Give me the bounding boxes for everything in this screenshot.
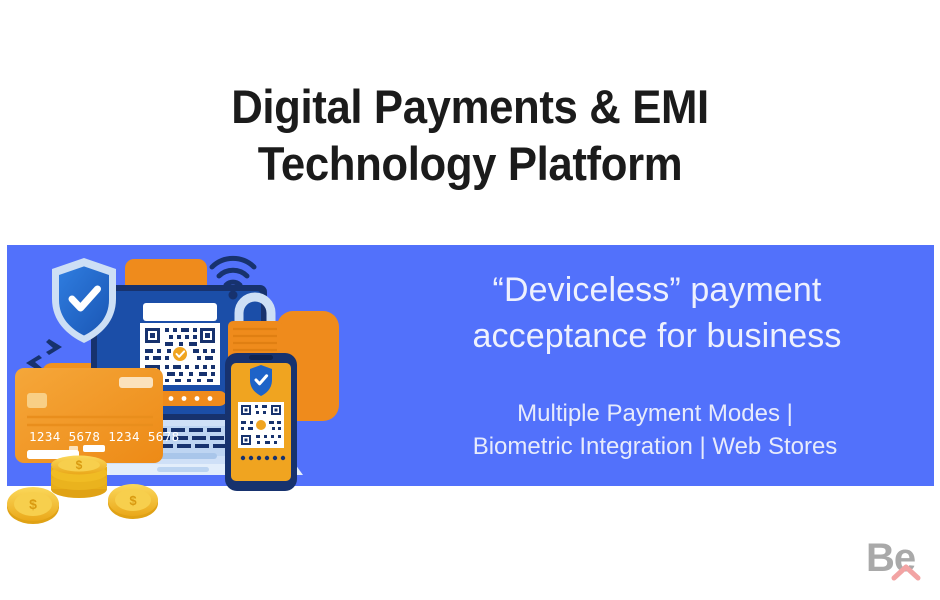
slide-canvas: Digital Payments & EMI Technology Platfo… [0, 0, 940, 600]
subheadline-line-2: Biometric Integration | Web Stores [405, 430, 905, 463]
behance-watermark: Be [866, 538, 930, 586]
digital-payment-illustration: 1234 5678 1234 5678 $ $ [7, 245, 407, 545]
headline-line-1: “Deviceless” payment [407, 267, 907, 313]
subheadline-line-1: Multiple Payment Modes | [405, 397, 905, 430]
banner-headline: “Deviceless” payment acceptance for busi… [407, 267, 907, 359]
blue-banner: 1234 5678 1234 5678 $ $ [7, 245, 934, 486]
chevron-up-icon [891, 562, 923, 582]
title-line-1: Digital Payments & EMI [33, 78, 907, 135]
coin-symbol-right: $ [129, 493, 137, 508]
smartphone [225, 353, 297, 491]
credit-card-number: 1234 5678 1234 5678 [29, 429, 180, 444]
credit-card: 1234 5678 1234 5678 [15, 368, 180, 463]
banner-subheadline: Multiple Payment Modes | Biometric Integ… [405, 397, 905, 463]
coin-symbol-stack: $ [76, 458, 83, 472]
coin-symbol-left: $ [29, 496, 37, 512]
page-title: Digital Payments & EMI Technology Platfo… [0, 78, 940, 192]
headline-line-2: acceptance for business [407, 313, 907, 359]
qr-code-phone [238, 402, 284, 448]
title-line-2: Technology Platform [33, 135, 907, 192]
